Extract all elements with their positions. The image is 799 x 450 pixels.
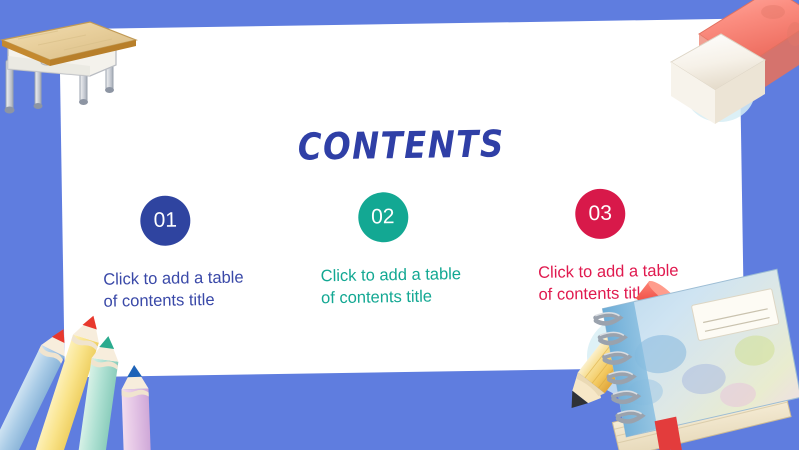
eraser-icon [653, 0, 799, 126]
spiral-notebook-icon [585, 288, 799, 450]
school-desk-icon [0, 8, 144, 118]
contents-text-01[interactable]: Click to add a table of contents title [103, 266, 244, 313]
contents-text-01-line2: of contents title [103, 291, 214, 311]
slide-canvas: CONTENTS 01 Click to add a table of cont… [0, 0, 799, 450]
contents-text-02-line2: of contents title [321, 288, 432, 308]
number-badge-03: 03 [575, 188, 626, 239]
page-title: CONTENTS [102, 119, 701, 171]
number-badge-01: 01 [140, 195, 191, 246]
contents-item-02[interactable]: 02 Click to add a table of contents titl… [319, 190, 506, 309]
contents-text-02-line1: Click to add a table [321, 265, 462, 285]
contents-item-01[interactable]: 01 Click to add a table of contents titl… [102, 194, 289, 313]
colored-pencils-icon [0, 311, 207, 450]
contents-text-03-line1: Click to add a table [538, 262, 679, 282]
contents-text-02[interactable]: Click to add a table of contents title [321, 263, 462, 310]
contents-text-01-line1: Click to add a table [103, 268, 244, 288]
number-badge-02: 02 [357, 192, 408, 243]
